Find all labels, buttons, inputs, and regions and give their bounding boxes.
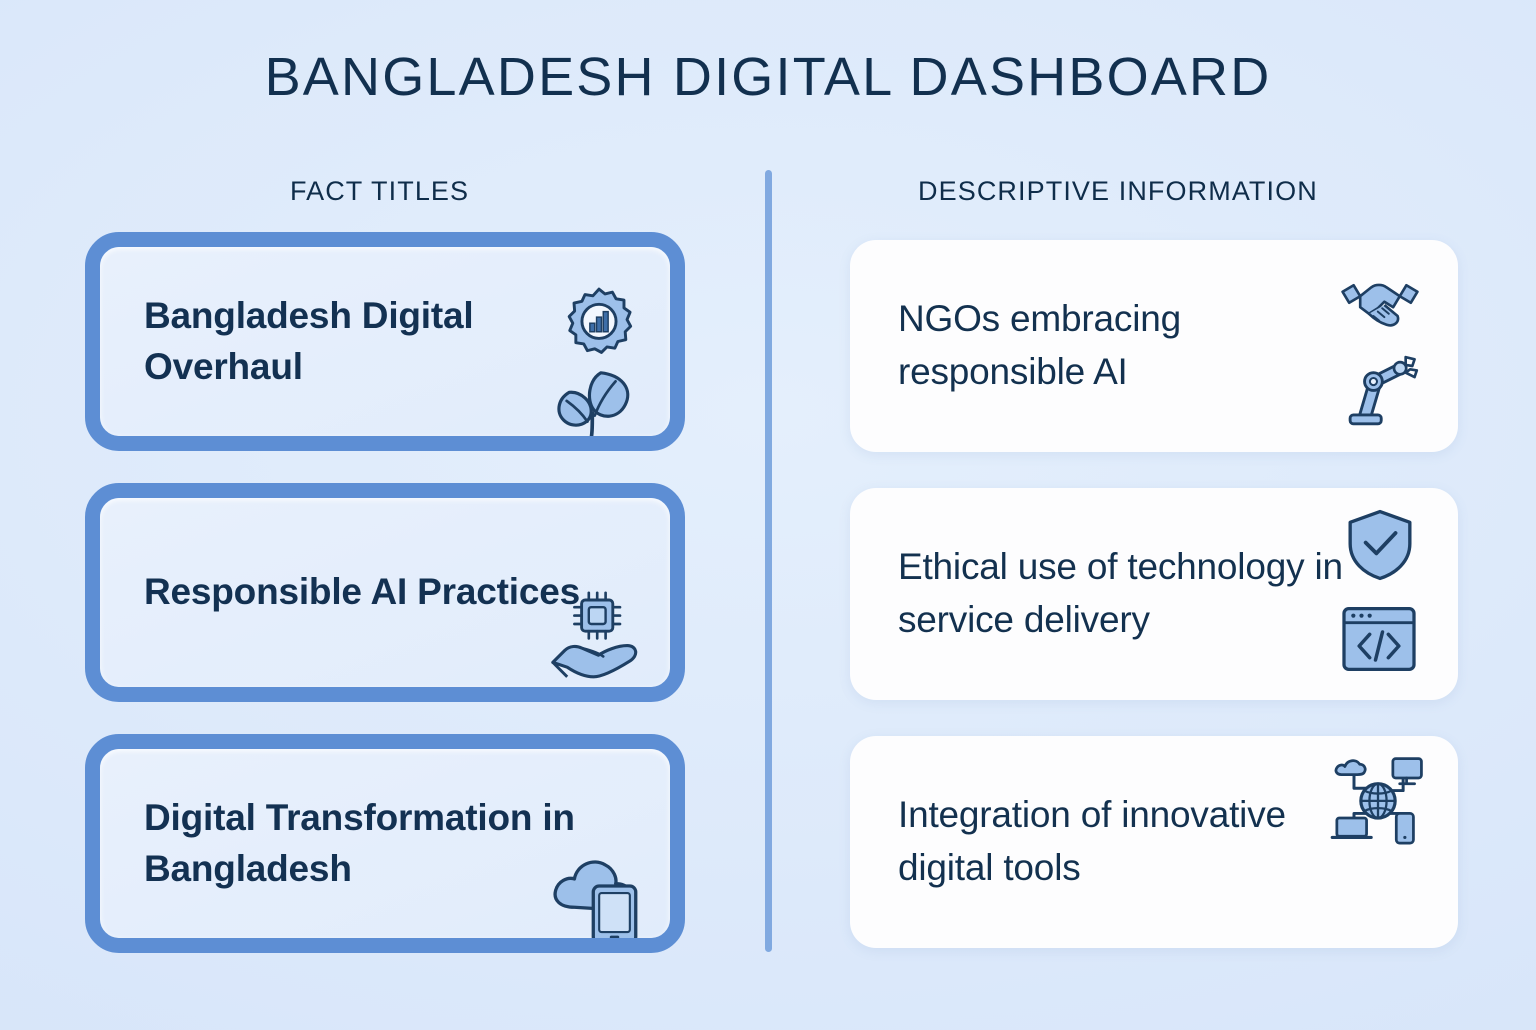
descriptive-card-3[interactable]: Integration of innovative digital tools — [850, 736, 1458, 948]
descriptive-card-2-label: Ethical use of technology in service del… — [898, 541, 1368, 646]
fact-title-card-1-label: Bangladesh Digital Overhaul — [144, 291, 584, 392]
fact-title-card-2-label: Responsible AI Practices — [144, 567, 580, 617]
page-title: BANGLADESH DIGITAL DASHBOARD — [0, 46, 1536, 108]
fact-title-card-1[interactable]: Bangladesh Digital Overhaul — [85, 232, 685, 451]
fact-title-card-3[interactable]: Digital Transformation in Bangladesh — [85, 734, 685, 953]
column-divider — [765, 170, 772, 952]
descriptive-card-1[interactable]: NGOs embracing responsible AI — [850, 240, 1458, 452]
descriptive-information-column: NGOs embracing responsible AI — [850, 240, 1458, 948]
descriptive-card-1-label: NGOs embracing responsible AI — [898, 293, 1368, 398]
fact-title-card-2[interactable]: Responsible AI Practices — [85, 483, 685, 702]
descriptive-card-3-label: Integration of innovative digital tools — [898, 789, 1368, 894]
fact-titles-column: Bangladesh Digital Overhaul — [85, 232, 685, 953]
column-heading-descriptive-information: DESCRIPTIVE INFORMATION — [918, 176, 1318, 207]
descriptive-card-2[interactable]: Ethical use of technology in service del… — [850, 488, 1458, 700]
column-heading-fact-titles: FACT TITLES — [290, 176, 469, 207]
dashboard-page: BANGLADESH DIGITAL DASHBOARD FACT TITLES… — [0, 0, 1536, 1030]
fact-title-card-3-label: Digital Transformation in Bangladesh — [144, 793, 584, 894]
